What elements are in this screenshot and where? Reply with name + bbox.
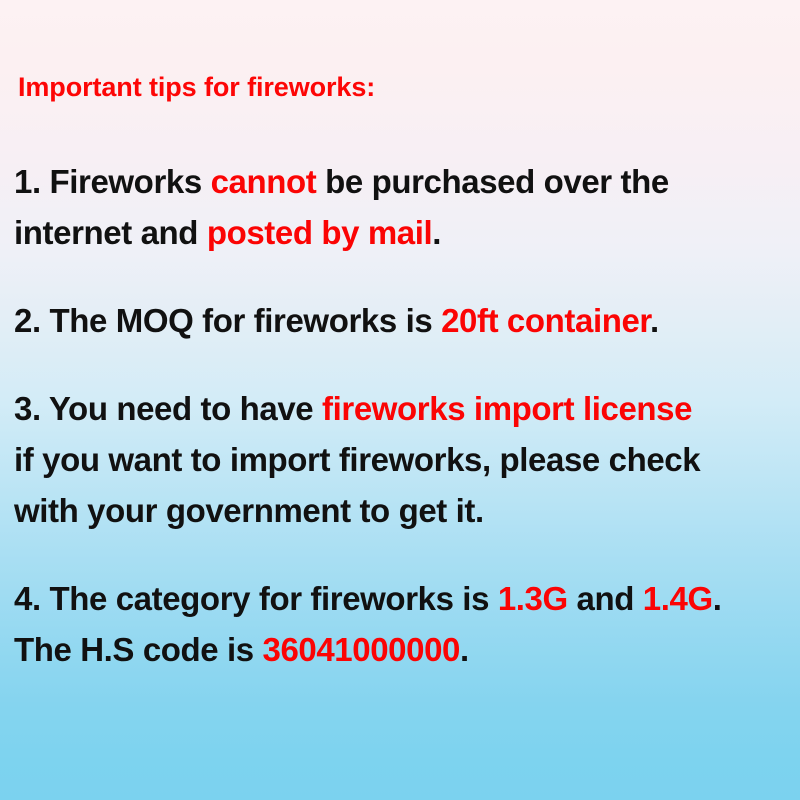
- tip-text: .: [650, 302, 659, 339]
- highlighted-text: 36041000000: [263, 631, 460, 668]
- tip-text: The H.S code is: [14, 631, 263, 668]
- tip-line: 2. The MOQ for fireworks is 20ft contain…: [14, 295, 786, 346]
- tip-item: 2. The MOQ for fireworks is 20ft contain…: [14, 295, 786, 346]
- tip-text: with your government to get it.: [14, 492, 484, 529]
- tip-line: The H.S code is 36041000000.: [14, 624, 786, 675]
- fireworks-tips-poster: Important tips for fireworks: 1. Firewor…: [0, 0, 800, 800]
- highlighted-text: 1.4G: [643, 580, 713, 617]
- tip-line: 4. The category for fireworks is 1.3G an…: [14, 573, 786, 624]
- tip-text: be purchased over the: [316, 163, 668, 200]
- highlighted-text: 1.3G: [498, 580, 568, 617]
- tip-text: .: [460, 631, 469, 668]
- tip-text: if you want to import fireworks, please …: [14, 441, 700, 478]
- tip-text: 4. The category for fireworks is: [14, 580, 498, 617]
- tip-text: 1. Fireworks: [14, 163, 211, 200]
- tip-line: 3. You need to have fireworks import lic…: [14, 383, 786, 434]
- page-title: Important tips for fireworks:: [18, 70, 375, 104]
- tip-item: 3. You need to have fireworks import lic…: [14, 383, 786, 536]
- tip-item: 4. The category for fireworks is 1.3G an…: [14, 573, 786, 675]
- tip-line: internet and posted by mail.: [14, 207, 786, 258]
- highlighted-text: cannot: [211, 163, 317, 200]
- tip-text: internet and: [14, 214, 207, 251]
- tip-line: with your government to get it.: [14, 485, 786, 536]
- highlighted-text: 20ft container: [441, 302, 650, 339]
- tip-text: and: [568, 580, 643, 617]
- highlighted-text: fireworks import license: [322, 390, 692, 427]
- tip-text: 2. The MOQ for fireworks is: [14, 302, 441, 339]
- tip-line: 1. Fireworks cannot be purchased over th…: [14, 156, 786, 207]
- tip-text: .: [432, 214, 441, 251]
- tip-text: .: [713, 580, 722, 617]
- highlighted-text: posted by mail: [207, 214, 432, 251]
- tip-text: 3. You need to have: [14, 390, 322, 427]
- tips-list: 1. Fireworks cannot be purchased over th…: [14, 156, 786, 675]
- tip-line: if you want to import fireworks, please …: [14, 434, 786, 485]
- tip-item: 1. Fireworks cannot be purchased over th…: [14, 156, 786, 258]
